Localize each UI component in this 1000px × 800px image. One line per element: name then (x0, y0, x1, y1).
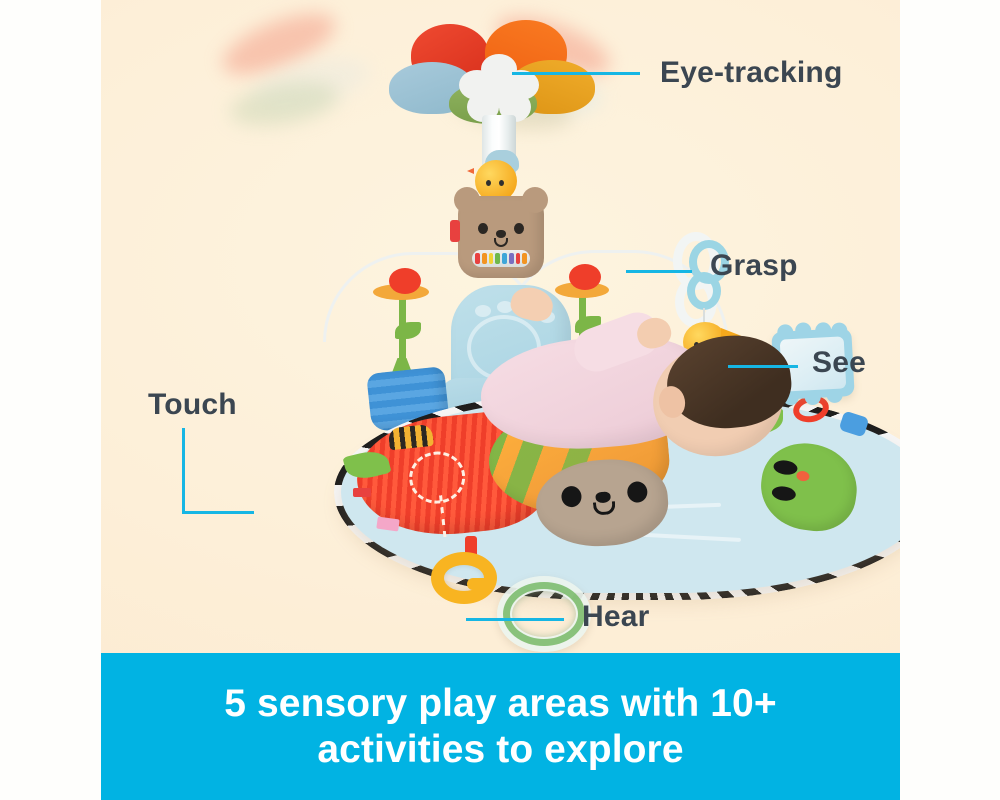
bear-rattle-toy (458, 196, 544, 278)
bear-ear (454, 187, 480, 213)
callout-eye-tracking: Eye-tracking (660, 56, 842, 90)
leader-line-touch-vertical (182, 428, 185, 514)
motion-blur-wing (226, 75, 341, 133)
flower-petal-red (389, 268, 421, 294)
mat-bear-eye (561, 485, 582, 507)
bead (482, 253, 487, 264)
bear-mouth (494, 238, 508, 247)
chick-beak (467, 168, 474, 174)
leader-line-hear (466, 618, 564, 621)
leader-line-touch-horizontal (182, 511, 254, 514)
mat-dashed-circle (407, 449, 468, 507)
product-photo-stage (101, 0, 900, 653)
mat-blue-toy (839, 410, 870, 437)
flower-petal-red (569, 264, 601, 290)
banner-line-2: activities to explore (317, 728, 683, 771)
bead (509, 253, 514, 264)
callout-touch: Touch (148, 388, 237, 422)
bead-roller (472, 250, 530, 267)
banner-line-1: 5 sensory play areas with 10+ (224, 682, 776, 725)
chick-eye (499, 180, 504, 186)
bead (522, 253, 527, 264)
bead (502, 253, 507, 264)
product-feature-image: Eye-tracking Grasp See Touch Hear 5 sens… (0, 0, 1000, 800)
leader-line-eye-tracking (512, 72, 640, 75)
callout-grasp: Grasp (710, 249, 798, 283)
rattle-ring-green-accent (503, 582, 585, 646)
banner-text: 5 sensory play areas with 10+ activities… (184, 681, 816, 771)
mat-bee-applique (388, 424, 434, 450)
feature-banner: 5 sensory play areas with 10+ activities… (101, 653, 900, 800)
brand-tag (450, 220, 460, 242)
bear-eye (514, 223, 524, 234)
bead (475, 253, 480, 264)
mat-frog-eye (771, 485, 797, 502)
bear-ear (522, 187, 548, 213)
baby (481, 316, 811, 476)
bear-nose (496, 230, 506, 238)
leader-line-see (728, 365, 798, 368)
mat-bear-mouth (593, 501, 616, 516)
ring-connector (467, 578, 493, 590)
bear-eye (478, 223, 488, 234)
mat-fabric-tag (353, 488, 371, 497)
callout-hear: Hear (582, 600, 650, 634)
bead (489, 253, 494, 264)
mat-bear-eye (627, 481, 648, 503)
callout-see: See (812, 346, 866, 380)
leader-line-grasp (626, 270, 692, 273)
chick-eye (486, 180, 491, 186)
flower-center-petal (483, 76, 517, 108)
bead (495, 253, 500, 264)
bead (516, 253, 521, 264)
